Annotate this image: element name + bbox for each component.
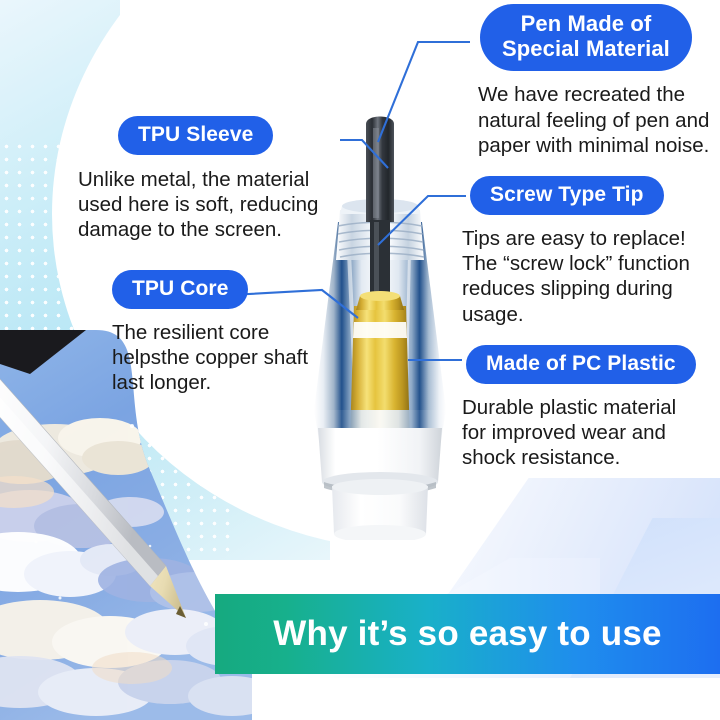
callout-screw-type-tip: Screw Type Tip Tips are easy to replace!…: [462, 176, 720, 327]
callout-body-screw-type-tip: Tips are easy to replace! The “screw loc…: [462, 226, 720, 328]
callout-body-tpu-sleeve: Unlike metal, the material used here is …: [78, 167, 346, 243]
callout-label-tpu-core[interactable]: TPU Core: [112, 270, 248, 309]
banner-headline: Why it’s so easy to use: [273, 614, 661, 654]
callout-tpu-core: TPU Core The resilient core helpsthe cop…: [106, 270, 356, 396]
callout-body-tpu-core: The resilient core helpsthe copper shaft…: [112, 320, 356, 396]
callout-label-pc-plastic[interactable]: Made of PC Plastic: [466, 345, 696, 384]
callout-pen-made-of-special-material: Pen Made of Special Material We have rec…: [478, 4, 720, 158]
infographic-canvas: Pen Made of Special Material We have rec…: [0, 0, 720, 720]
bottom-headline-banner: Why it’s so easy to use: [215, 594, 720, 674]
callout-body-pc-plastic: Durable plastic material for improved we…: [462, 395, 720, 471]
callout-made-of-pc-plastic: Made of PC Plastic Durable plastic mater…: [462, 345, 720, 471]
callout-label-pen-material[interactable]: Pen Made of Special Material: [480, 4, 692, 71]
callout-tpu-sleeve: TPU Sleeve Unlike metal, the material us…: [78, 116, 346, 243]
callout-body-pen-material: We have recreated the natural feeling of…: [478, 82, 720, 158]
callout-label-screw-type-tip[interactable]: Screw Type Tip: [470, 176, 664, 215]
callout-label-tpu-sleeve[interactable]: TPU Sleeve: [118, 116, 273, 155]
